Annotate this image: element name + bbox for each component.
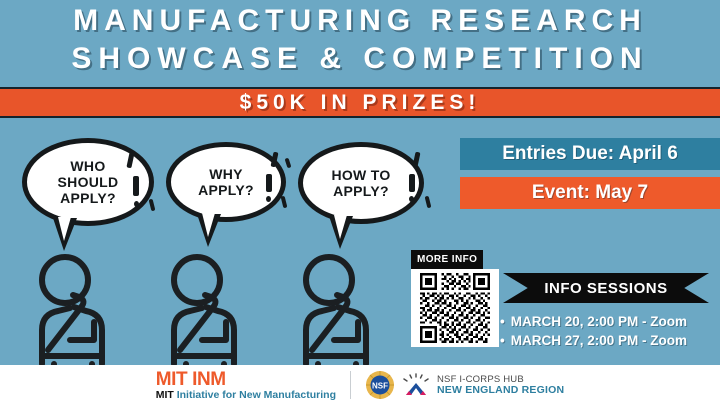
speech-bubble-tail-icon [53, 218, 77, 251]
info-sessions-list: MARCH 20, 2:00 PM - Zoom MARCH 27, 2:00 … [500, 312, 720, 350]
info-sessions-ribbon: INFO SESSIONS [503, 273, 709, 303]
thinking-person-icon [150, 248, 268, 366]
nsf-icorps-text: NSF I-CORPS HUB NEW ENGLAND REGION [437, 374, 564, 396]
nsf-icorps-logo: NSF NSF I-CORPS HUB NEW ENGLAND REGION [365, 370, 564, 400]
headline-line-1: MANUFACTURING RESEARCH [0, 2, 720, 40]
motion-dash-icon [281, 196, 288, 209]
footer-logo-bar: MIT INM MIT Initiative for New Manufactu… [0, 365, 720, 405]
motion-dash-icon [412, 152, 420, 168]
bubble-why-line-1: WHY [198, 166, 254, 182]
motion-dash-icon [409, 174, 415, 192]
footer-divider [350, 371, 351, 399]
thinking-person-icon [282, 248, 400, 366]
more-info-qr-block[interactable]: MORE INFO [411, 249, 499, 347]
event-date-badge: Event: May 7 [460, 177, 720, 209]
motion-dash-icon [266, 174, 272, 192]
motion-dash-icon [285, 158, 292, 169]
poster-canvas: MANUFACTURING RESEARCH SHOWCASE & COMPET… [0, 0, 720, 405]
thinking-person-icon [18, 248, 136, 366]
prize-banner-label: $50K IN PRIZES! [240, 91, 481, 115]
nsf-seal-icon: NSF [365, 370, 395, 400]
motion-dash-icon [425, 196, 432, 209]
motion-dash-icon [133, 176, 139, 196]
page-title: MANUFACTURING RESEARCH SHOWCASE & COMPET… [0, 2, 720, 78]
list-item: MARCH 27, 2:00 PM - Zoom [500, 331, 720, 350]
icorps-chevron-icon [402, 372, 430, 398]
headline-line-2: SHOWCASE & COMPETITION [0, 40, 720, 78]
mit-inm-wordmark: MIT INM [156, 370, 336, 389]
motion-dash-icon [266, 196, 271, 202]
bubble-who-line-1: WHO [58, 158, 119, 174]
mit-tagline-rest: Initiative for New Manufacturing [177, 389, 336, 401]
more-info-label: MORE INFO [411, 250, 483, 269]
motion-dash-icon [134, 201, 139, 207]
speech-bubble-how-to-apply: HOW TO APPLY? [298, 142, 424, 224]
nsf-region-line: NEW ENGLAND REGION [437, 385, 564, 396]
bubble-how-line-1: HOW TO [331, 167, 390, 183]
mit-inm-logo: MIT INM MIT Initiative for New Manufactu… [156, 370, 336, 401]
motion-dash-icon [149, 199, 156, 212]
nsf-seal-text: NSF [372, 382, 388, 391]
list-item: MARCH 20, 2:00 PM - Zoom [500, 312, 720, 331]
mit-inm-tagline: MIT Initiative for New Manufacturing [156, 389, 336, 401]
speech-bubble-tail-icon [329, 216, 353, 249]
bubble-who-line-3: APPLY? [58, 190, 119, 206]
event-date-label: Event: May 7 [532, 182, 648, 204]
qr-code-icon[interactable] [411, 269, 499, 347]
bubble-how-line-2: APPLY? [331, 183, 390, 199]
bubble-who-line-2: SHOULD [58, 174, 119, 190]
motion-dash-icon [409, 196, 414, 202]
speech-bubble-tail-icon [197, 214, 221, 247]
info-sessions-title: INFO SESSIONS [544, 280, 667, 297]
prize-banner: $50K IN PRIZES! [0, 87, 720, 118]
entries-due-badge: Entries Due: April 6 [460, 138, 720, 170]
bubble-why-line-2: APPLY? [198, 182, 254, 198]
mit-tagline-bold: MIT [156, 389, 177, 401]
entries-due-label: Entries Due: April 6 [502, 143, 678, 165]
